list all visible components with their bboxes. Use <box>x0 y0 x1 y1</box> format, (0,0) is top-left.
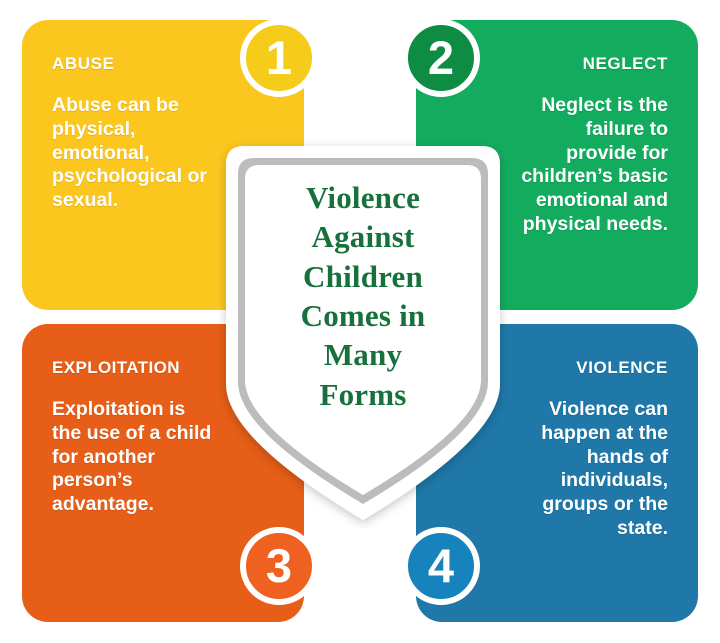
shield-title-line: Many <box>218 335 508 374</box>
quadrant-title-exploitation: EXPLOITATION <box>52 358 214 378</box>
shield-title-line: Children <box>218 257 508 296</box>
infographic-canvas: ABUSE Abuse can be physical, emotional, … <box>0 0 720 643</box>
step-number-badge-2: 2 <box>402 19 480 97</box>
quadrant-title-abuse: ABUSE <box>52 54 208 74</box>
quadrant-title-violence: VIOLENCE <box>506 358 668 378</box>
step-number-badge-4: 4 <box>402 527 480 605</box>
quadrant-title-neglect: NEGLECT <box>512 54 668 74</box>
quadrant-body-abuse: Abuse can be physical, emotional, psycho… <box>52 94 208 213</box>
shield-title-line: Forms <box>218 375 508 414</box>
quadrant-body-neglect: Neglect is the failure to provide for ch… <box>512 94 668 237</box>
center-shield-title: Violence Against Children Comes in Many … <box>218 178 508 414</box>
step-number-badge-3: 3 <box>240 527 318 605</box>
shield-title-line: Comes in <box>218 296 508 335</box>
quadrant-body-violence: Violence can happen at the hands of indi… <box>506 398 668 541</box>
center-shield: Violence Against Children Comes in Many … <box>218 138 508 528</box>
step-number-badge-1: 1 <box>240 19 318 97</box>
quadrant-body-exploitation: Exploitation is the use of a child for a… <box>52 398 214 517</box>
shield-title-line: Against <box>218 217 508 256</box>
shield-title-line: Violence <box>218 178 508 217</box>
